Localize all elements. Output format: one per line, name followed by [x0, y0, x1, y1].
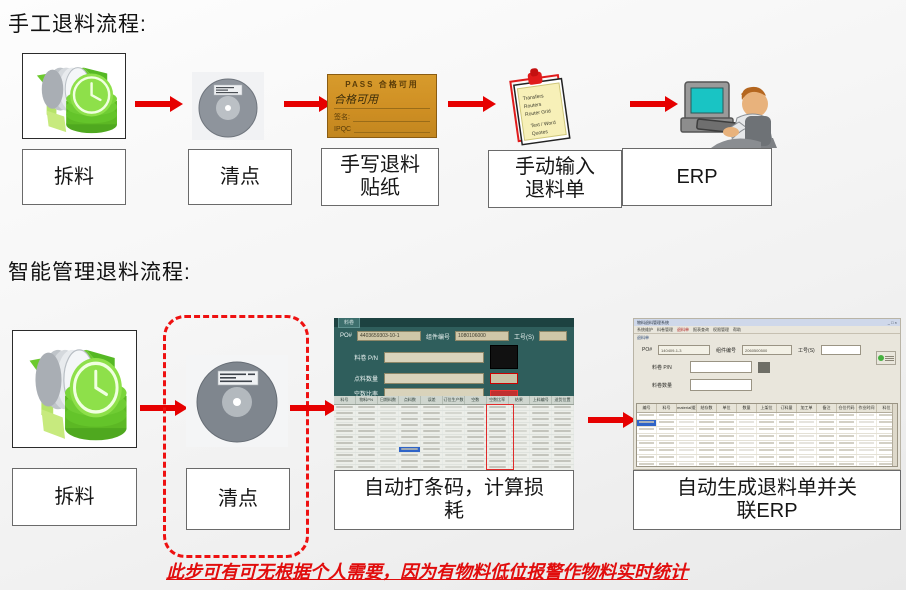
app-light-tabline[interactable]: 退料单 [634, 334, 900, 341]
smart-step-4-label-line1: 自动生成退料单并关 [677, 477, 857, 500]
table-cell [530, 411, 552, 416]
table-cell [443, 435, 465, 440]
app-light-label-emp: 工号(S) [798, 347, 815, 354]
table-cell [677, 434, 697, 440]
table-cell [637, 420, 657, 426]
col: 空数 [465, 396, 487, 404]
table-cell [697, 455, 717, 461]
table-cell [837, 462, 857, 467]
pass-label-handwriting: 合格可用 [334, 91, 430, 109]
table-cell [356, 447, 378, 452]
grid-scrollbar[interactable] [892, 404, 897, 466]
app-dark-input-po[interactable]: 4403659303-10-1 [357, 331, 421, 341]
table-cell [817, 413, 837, 419]
arrow-icon-3 [448, 96, 496, 112]
table-cell [737, 434, 757, 440]
table-cell [443, 447, 465, 452]
table-cell [857, 448, 877, 454]
table-row[interactable] [637, 455, 897, 462]
col: 结存数 [697, 404, 717, 412]
table-cell [465, 411, 487, 416]
table-cell [757, 420, 777, 426]
table-cell [817, 448, 837, 454]
table-cell [552, 429, 574, 434]
table-cell [637, 434, 657, 440]
table-cell [443, 429, 465, 434]
manual-step-3-label: 手写退料 贴纸 [321, 148, 439, 206]
table-cell [677, 427, 697, 433]
table-cell [757, 434, 777, 440]
manual-step-4-label: 手动输入 退料单 [488, 150, 622, 208]
table-cell [530, 453, 552, 458]
table-cell [817, 455, 837, 461]
clipboard-icon: Transfers Routers Router Grid Text / Wor… [500, 62, 578, 146]
table-cell [530, 441, 552, 446]
table-cell [757, 441, 777, 447]
table-cell [421, 429, 443, 434]
table-cell [837, 448, 857, 454]
table-cell [797, 448, 817, 454]
table-cell [530, 417, 552, 422]
table-cell [509, 429, 531, 434]
manual-step-4-label-line2: 退料单 [525, 179, 585, 202]
table-cell [509, 405, 531, 410]
app-dark-tabrow[interactable]: 料卷 [334, 318, 574, 327]
table-cell [421, 423, 443, 428]
table-cell [737, 420, 757, 426]
smart-step-3-label-line1: 自动打条码，计算损 [364, 477, 544, 500]
app-light-label-qty: 料卷数量 [652, 382, 684, 389]
col: 仓位代码 [837, 404, 857, 412]
table-row[interactable] [637, 462, 897, 467]
table-cell [677, 455, 697, 461]
table-cell [757, 448, 777, 454]
table-cell [737, 462, 757, 467]
app-light-green-button[interactable] [876, 351, 896, 365]
app-dark-grid[interactable]: 料号 物料PN 日期料数 点料数 误差 订位生产数 空数 空数比率 结果 上料编… [334, 396, 574, 470]
button-lines-icon [885, 356, 894, 361]
table-cell [334, 441, 356, 446]
table-cell [465, 447, 487, 452]
arrow-icon-1 [135, 96, 183, 112]
table-cell [737, 413, 757, 419]
reel-photo-2 [186, 355, 288, 447]
green-database-clock-icon-2 [12, 330, 137, 448]
table-cell [443, 459, 465, 464]
manual-step-4-label-line1: 手动输入 [515, 156, 595, 179]
table-cell [356, 429, 378, 434]
table-row[interactable] [637, 413, 897, 420]
window-controls[interactable]: _ □ × [888, 320, 897, 325]
table-cell [378, 405, 400, 410]
table-cell [697, 420, 717, 426]
table-cell [530, 423, 552, 428]
table-cell [657, 434, 677, 440]
table-cell [509, 423, 531, 428]
app-dark-grid-header: 料号 物料PN 日期料数 点料数 误差 订位生产数 空数 空数比率 结果 上料编… [334, 396, 574, 405]
table-cell [378, 453, 400, 458]
col: 误差 [421, 396, 443, 404]
smart-step-4-label: 自动生成退料单并关 联ERP [633, 470, 901, 530]
app-screenshot-dark[interactable]: 料卷 PO# 4403659303-10-1 组件编号 1080106000 工… [334, 318, 574, 470]
table-cell [777, 441, 797, 447]
table-cell [509, 411, 531, 416]
col: 料号 [334, 396, 356, 404]
pass-label-line1: 签名: [334, 112, 350, 122]
table-cell [530, 429, 552, 434]
table-cell [399, 459, 421, 464]
table-cell [356, 453, 378, 458]
table-cell [677, 413, 697, 419]
table-cell [334, 429, 356, 434]
col: 上料编号 [530, 396, 552, 404]
smart-step-2-label: 清点 [186, 468, 290, 530]
table-cell [530, 447, 552, 452]
table-cell [399, 453, 421, 458]
table-cell [837, 413, 857, 419]
table-cell [737, 455, 757, 461]
table-cell [378, 417, 400, 422]
table-cell [421, 435, 443, 440]
app-dark-label-comp: 组件编号 [426, 332, 450, 341]
table-row[interactable] [637, 441, 897, 448]
arrow-icon-2 [284, 96, 332, 112]
table-cell [857, 413, 877, 419]
table-cell [443, 453, 465, 458]
table-cell [421, 453, 443, 458]
table-cell [356, 411, 378, 416]
footnote-caption: 此步可有可无根据个人需要，因为有物料低位报警作物料实时统计 [166, 558, 688, 584]
table-cell [777, 427, 797, 433]
table-cell [399, 411, 421, 416]
smart-flow-title: 智能管理退料流程: [8, 256, 191, 286]
table-cell [465, 405, 487, 410]
table-cell [837, 427, 857, 433]
table-cell [637, 441, 657, 447]
table-cell [777, 434, 797, 440]
table-cell [797, 441, 817, 447]
table-cell [421, 447, 443, 452]
table-cell [717, 420, 737, 426]
table-row[interactable] [637, 420, 897, 427]
manual-step-2-label: 清点 [188, 149, 292, 205]
table-cell [552, 453, 574, 458]
table-cell [378, 411, 400, 416]
table-cell [737, 448, 757, 454]
table-cell [421, 411, 443, 416]
table-cell [552, 423, 574, 428]
table-cell [421, 459, 443, 464]
menu-item[interactable]: 报表查询 [693, 327, 709, 333]
table-cell [717, 413, 737, 419]
table-cell [530, 405, 552, 410]
table-cell [443, 405, 465, 410]
table-cell [637, 462, 657, 467]
table-cell [487, 459, 509, 464]
col: 日期料数 [378, 396, 400, 404]
app-light-input-po[interactable]: 140409-1-3 [658, 345, 710, 355]
table-cell [717, 455, 737, 461]
table-cell [509, 453, 531, 458]
table-cell [356, 405, 378, 410]
table-cell [777, 455, 797, 461]
table-cell [378, 447, 400, 452]
smart-step-1-label: 拆料 [12, 468, 137, 526]
table-cell [465, 459, 487, 464]
table-cell [797, 427, 817, 433]
table-cell [487, 441, 509, 446]
manual-flow-title: 手工退料流程: [8, 8, 147, 38]
table-cell [857, 434, 877, 440]
table-cell [837, 441, 857, 447]
table-cell [443, 411, 465, 416]
table-cell [530, 459, 552, 464]
table-cell [487, 423, 509, 428]
reel-photo-1 [192, 72, 264, 140]
table-cell [552, 411, 574, 416]
table-cell [399, 441, 421, 446]
table-cell [443, 417, 465, 422]
table-cell [399, 417, 421, 422]
table-cell [657, 420, 677, 426]
arrow-icon-7 [588, 412, 636, 428]
table-cell [552, 441, 574, 446]
col: 物料PN [356, 396, 378, 404]
app-light-grid[interactable]: 编号 料号 material描述 结存数 单位 数量 上架位 订料量 加工单 备… [636, 403, 898, 467]
col: 料号 [657, 404, 677, 412]
table-cell [817, 462, 837, 467]
table-cell [637, 427, 657, 433]
table-cell [757, 462, 777, 467]
table-cell [717, 448, 737, 454]
table-cell [487, 447, 509, 452]
table-cell [378, 459, 400, 464]
table-cell [857, 427, 877, 433]
table-cell [509, 447, 531, 452]
menu-item[interactable]: 帮助 [733, 327, 741, 333]
table-cell [356, 423, 378, 428]
app-dark-label-emp: 工号(S) [514, 332, 534, 341]
table-cell [657, 427, 677, 433]
table-cell [378, 435, 400, 440]
col: 单位 [717, 404, 737, 412]
table-cell [552, 435, 574, 440]
table-cell [717, 462, 737, 467]
table-cell [465, 441, 487, 446]
app-screenshot-light[interactable]: 物料退料管理系统 _ □ × 系统维护 料卷管理 退料单 报表查询 权限管理 帮… [633, 318, 901, 470]
manual-step-5-label: ERP [622, 148, 772, 206]
table-cell [334, 423, 356, 428]
table-cell [697, 448, 717, 454]
table-cell [334, 411, 356, 416]
table-cell [399, 423, 421, 428]
table-cell [487, 453, 509, 458]
table-cell [334, 453, 356, 458]
table-cell [797, 413, 817, 419]
table-cell [757, 413, 777, 419]
table-cell [487, 411, 509, 416]
table-cell [697, 413, 717, 419]
table-cell [356, 459, 378, 464]
col: 备注 [817, 404, 837, 412]
menu-item[interactable]: 料卷管理 [657, 327, 673, 333]
table-cell [837, 455, 857, 461]
table-cell [421, 405, 443, 410]
col: 送货位置 [552, 396, 574, 404]
table-cell [817, 441, 837, 447]
col: 编号 [637, 404, 657, 412]
col: 点料数 [399, 396, 421, 404]
table-cell [487, 429, 509, 434]
manual-step-3-label-line2: 贴纸 [360, 177, 400, 200]
table-cell [334, 405, 356, 410]
table-row[interactable] [637, 427, 897, 434]
menu-item[interactable]: 权限管理 [713, 327, 729, 333]
app-light-input-qty[interactable] [690, 379, 752, 391]
col: 上架位 [757, 404, 777, 412]
table-cell [399, 447, 421, 452]
table-cell [637, 448, 657, 454]
table-cell [777, 462, 797, 467]
app-dark-label-po: PO# [340, 333, 352, 339]
menu-item[interactable]: 系统维护 [637, 327, 653, 333]
table-cell [797, 434, 817, 440]
table-cell [378, 429, 400, 434]
manual-step-1-label: 拆料 [22, 149, 126, 205]
table-cell [421, 417, 443, 422]
green-dot-icon [878, 355, 884, 361]
app-dark-input-emp[interactable] [539, 331, 567, 341]
manual-step-3-label-line1: 手写退料 [340, 154, 420, 177]
table-cell [530, 435, 552, 440]
table-cell [817, 427, 837, 433]
table-cell [797, 455, 817, 461]
table-cell [552, 417, 574, 422]
app-dark-label-qty: 点料数量 [340, 374, 378, 383]
table-cell [421, 441, 443, 446]
table-cell [509, 417, 531, 422]
col: 订料量 [777, 404, 797, 412]
smart-step-3-label-line2: 耗 [444, 500, 464, 523]
app-dark-label-pn: 料卷 P/N [340, 353, 378, 362]
table-cell [677, 448, 697, 454]
table-cell [552, 405, 574, 410]
app-dark-tab[interactable]: 料卷 [338, 318, 360, 328]
app-light-tab[interactable]: 退料单 [637, 335, 649, 341]
app-light-titlebar: 物料退料管理系统 _ □ × [634, 319, 900, 326]
table-cell [465, 429, 487, 434]
arrow-icon-6 [290, 400, 338, 416]
table-cell [552, 447, 574, 452]
table-row[interactable] [637, 448, 897, 455]
table-cell [857, 462, 877, 467]
col: 空数比率 [487, 396, 509, 404]
table-cell [657, 448, 677, 454]
app-light-input-emp[interactable] [821, 345, 861, 355]
table-cell [657, 455, 677, 461]
orange-pass-label: PASS 合格可用 合格可用 签名: IPQC [327, 74, 437, 138]
app-dark-action-button[interactable] [490, 373, 518, 384]
table-cell [356, 441, 378, 446]
table-cell [487, 405, 509, 410]
table-cell [487, 435, 509, 440]
table-cell [777, 413, 797, 419]
table-cell [657, 413, 677, 419]
app-light-input-pn[interactable] [690, 361, 752, 373]
table-cell [637, 413, 657, 419]
table-cell [697, 434, 717, 440]
table-cell [837, 420, 857, 426]
table-cell [697, 441, 717, 447]
table-cell [717, 434, 737, 440]
table-cell [797, 420, 817, 426]
app-light-label-po: PO# [642, 347, 652, 353]
table-cell [443, 423, 465, 428]
table-cell [465, 453, 487, 458]
col: 数量 [737, 404, 757, 412]
table-cell [334, 459, 356, 464]
menu-item[interactable]: 退料单 [677, 327, 689, 333]
table-cell [677, 420, 697, 426]
table-cell [697, 427, 717, 433]
table-cell [637, 455, 657, 461]
table-cell [757, 455, 777, 461]
table-cell [817, 420, 837, 426]
table-cell [509, 435, 531, 440]
table-cell [399, 405, 421, 410]
table-cell [657, 462, 677, 467]
table-cell [717, 441, 737, 447]
table-cell [399, 435, 421, 440]
app-light-input-comp[interactable]: 2060500500 [742, 345, 792, 355]
table-cell [777, 448, 797, 454]
app-light-menubar[interactable]: 系统维护 料卷管理 退料单 报表查询 权限管理 帮助 [634, 326, 900, 334]
table-cell [857, 441, 877, 447]
table-cell [465, 417, 487, 422]
col: 结果 [509, 396, 531, 404]
app-light-label-comp: 组件编号 [716, 347, 736, 354]
table-cell [757, 427, 777, 433]
table-cell [717, 427, 737, 433]
app-light-grid-header: 编号 料号 material描述 结存数 单位 数量 上架位 订料量 加工单 备… [637, 404, 897, 413]
smart-step-4-label-line2: 联ERP [736, 500, 797, 523]
table-cell [465, 435, 487, 440]
app-dark-input-qty[interactable] [384, 373, 484, 384]
table-cell [334, 417, 356, 422]
table-cell [399, 429, 421, 434]
table-cell [378, 423, 400, 428]
table-cell [356, 417, 378, 422]
col: 加工单 [797, 404, 817, 412]
table-cell [697, 462, 717, 467]
app-dark-input-comp[interactable]: 1080106000 [455, 331, 509, 341]
table-cell [356, 435, 378, 440]
col: 订位生产数 [443, 396, 465, 404]
app-light-lookup-button[interactable] [758, 362, 770, 373]
green-database-clock-icon [22, 53, 126, 139]
table-cell [797, 462, 817, 467]
table-row[interactable] [637, 434, 897, 441]
table-cell [777, 420, 797, 426]
table-cell [737, 441, 757, 447]
table-cell [737, 427, 757, 433]
table-cell [677, 441, 697, 447]
table-cell [857, 455, 877, 461]
col: 作业时间 [857, 404, 877, 412]
app-dark-input-pn[interactable] [384, 352, 484, 363]
table-cell [334, 435, 356, 440]
col: material描述 [677, 404, 697, 412]
